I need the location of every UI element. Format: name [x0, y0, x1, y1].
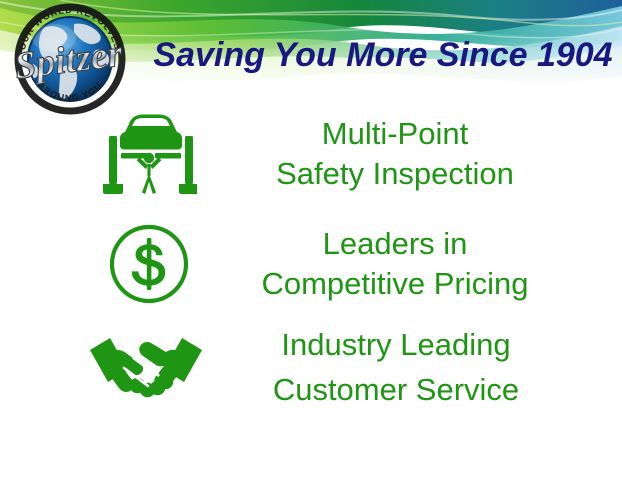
dollar-circle-icon	[107, 222, 191, 306]
feature-text-service: Industry Leading Customer Service	[210, 322, 582, 412]
spitzer-globe-logo: Spitzer OUR WORLD REVOLVES AROUND YOU	[4, 2, 136, 117]
feature-row-pricing: Leaders in Competitive Pricing	[88, 218, 588, 310]
feature-row-service: Industry Leading Customer Service	[82, 322, 592, 412]
feature-line-1: Leaders in	[210, 224, 580, 264]
handshake-icon	[88, 328, 204, 406]
feature-line-2: Competitive Pricing	[210, 264, 580, 304]
feature-text-inspection: Multi-Point Safety Inspection	[210, 114, 580, 194]
feature-text-pricing: Leaders in Competitive Pricing	[210, 224, 580, 304]
feature-line-2: Customer Service	[210, 367, 582, 412]
car-lift-icon	[101, 112, 197, 196]
dollar-circle-icon-wrapper	[88, 218, 210, 310]
feature-line-2: Safety Inspection	[210, 154, 580, 194]
globe-icon: Spitzer OUR WORLD REVOLVES AROUND YOU	[4, 2, 136, 117]
page-title: Saving You More Since 1904	[150, 38, 616, 74]
feature-line-1: Multi-Point	[210, 114, 580, 154]
car-lift-icon-wrapper	[88, 108, 210, 200]
feature-row-inspection: Multi-Point Safety Inspection	[88, 108, 588, 200]
marketing-slide: Spitzer OUR WORLD REVOLVES AROUND YOU Sa…	[0, 0, 622, 483]
feature-line-1: Industry Leading	[210, 322, 582, 367]
handshake-icon-wrapper	[82, 322, 210, 412]
